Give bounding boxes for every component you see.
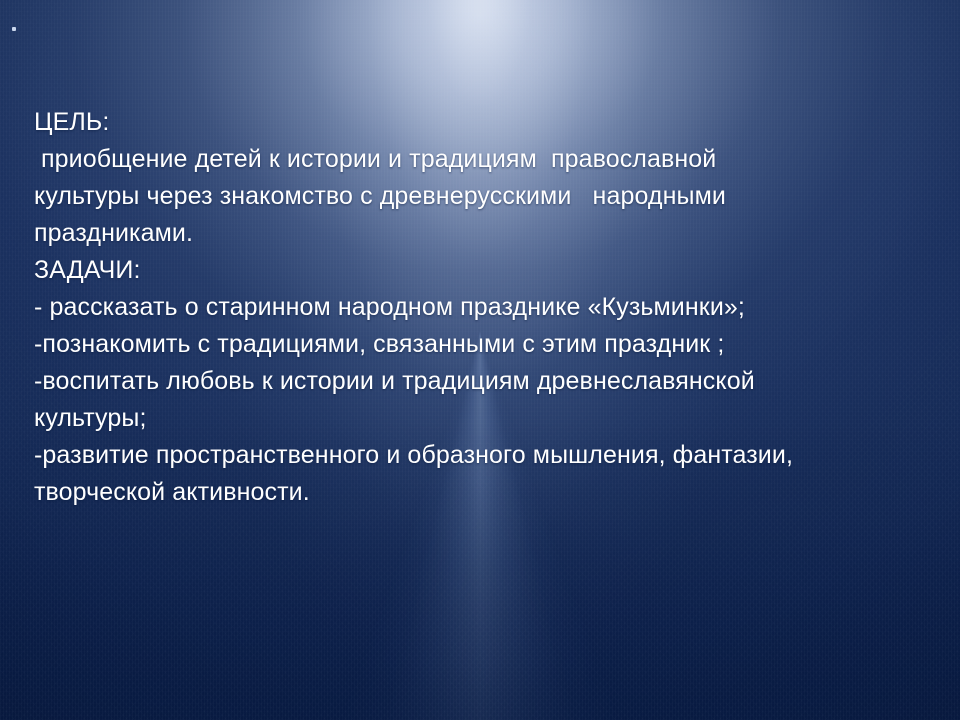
text-line-task-4a: -развитие пространственного и образного … xyxy=(34,437,934,474)
slide-text-body: ЦЕЛЬ: приобщение детей к истории и тради… xyxy=(34,104,934,511)
text-line-task-4b: творческой активности. xyxy=(34,474,934,511)
text-line-task-3a: -воспитать любовь к истории и традициям … xyxy=(34,363,934,400)
presentation-slide: ЦЕЛЬ: приобщение детей к истории и тради… xyxy=(0,0,960,720)
corner-dot-marker xyxy=(12,27,16,31)
text-line-goal-heading: ЦЕЛЬ: xyxy=(34,104,934,141)
text-line-tasks-heading: ЗАДАЧИ: xyxy=(34,252,934,289)
text-line-task-1: - рассказать о старинном народном праздн… xyxy=(34,289,934,326)
text-line-goal-3: праздниками. xyxy=(34,215,934,252)
text-line-goal-1: приобщение детей к истории и традициям п… xyxy=(34,141,934,178)
text-line-task-3b: культуры; xyxy=(34,400,934,437)
text-line-goal-2: культуры через знакомство с древнерусски… xyxy=(34,178,934,215)
text-line-task-2: -познакомить с традициями, связанными с … xyxy=(34,326,934,363)
